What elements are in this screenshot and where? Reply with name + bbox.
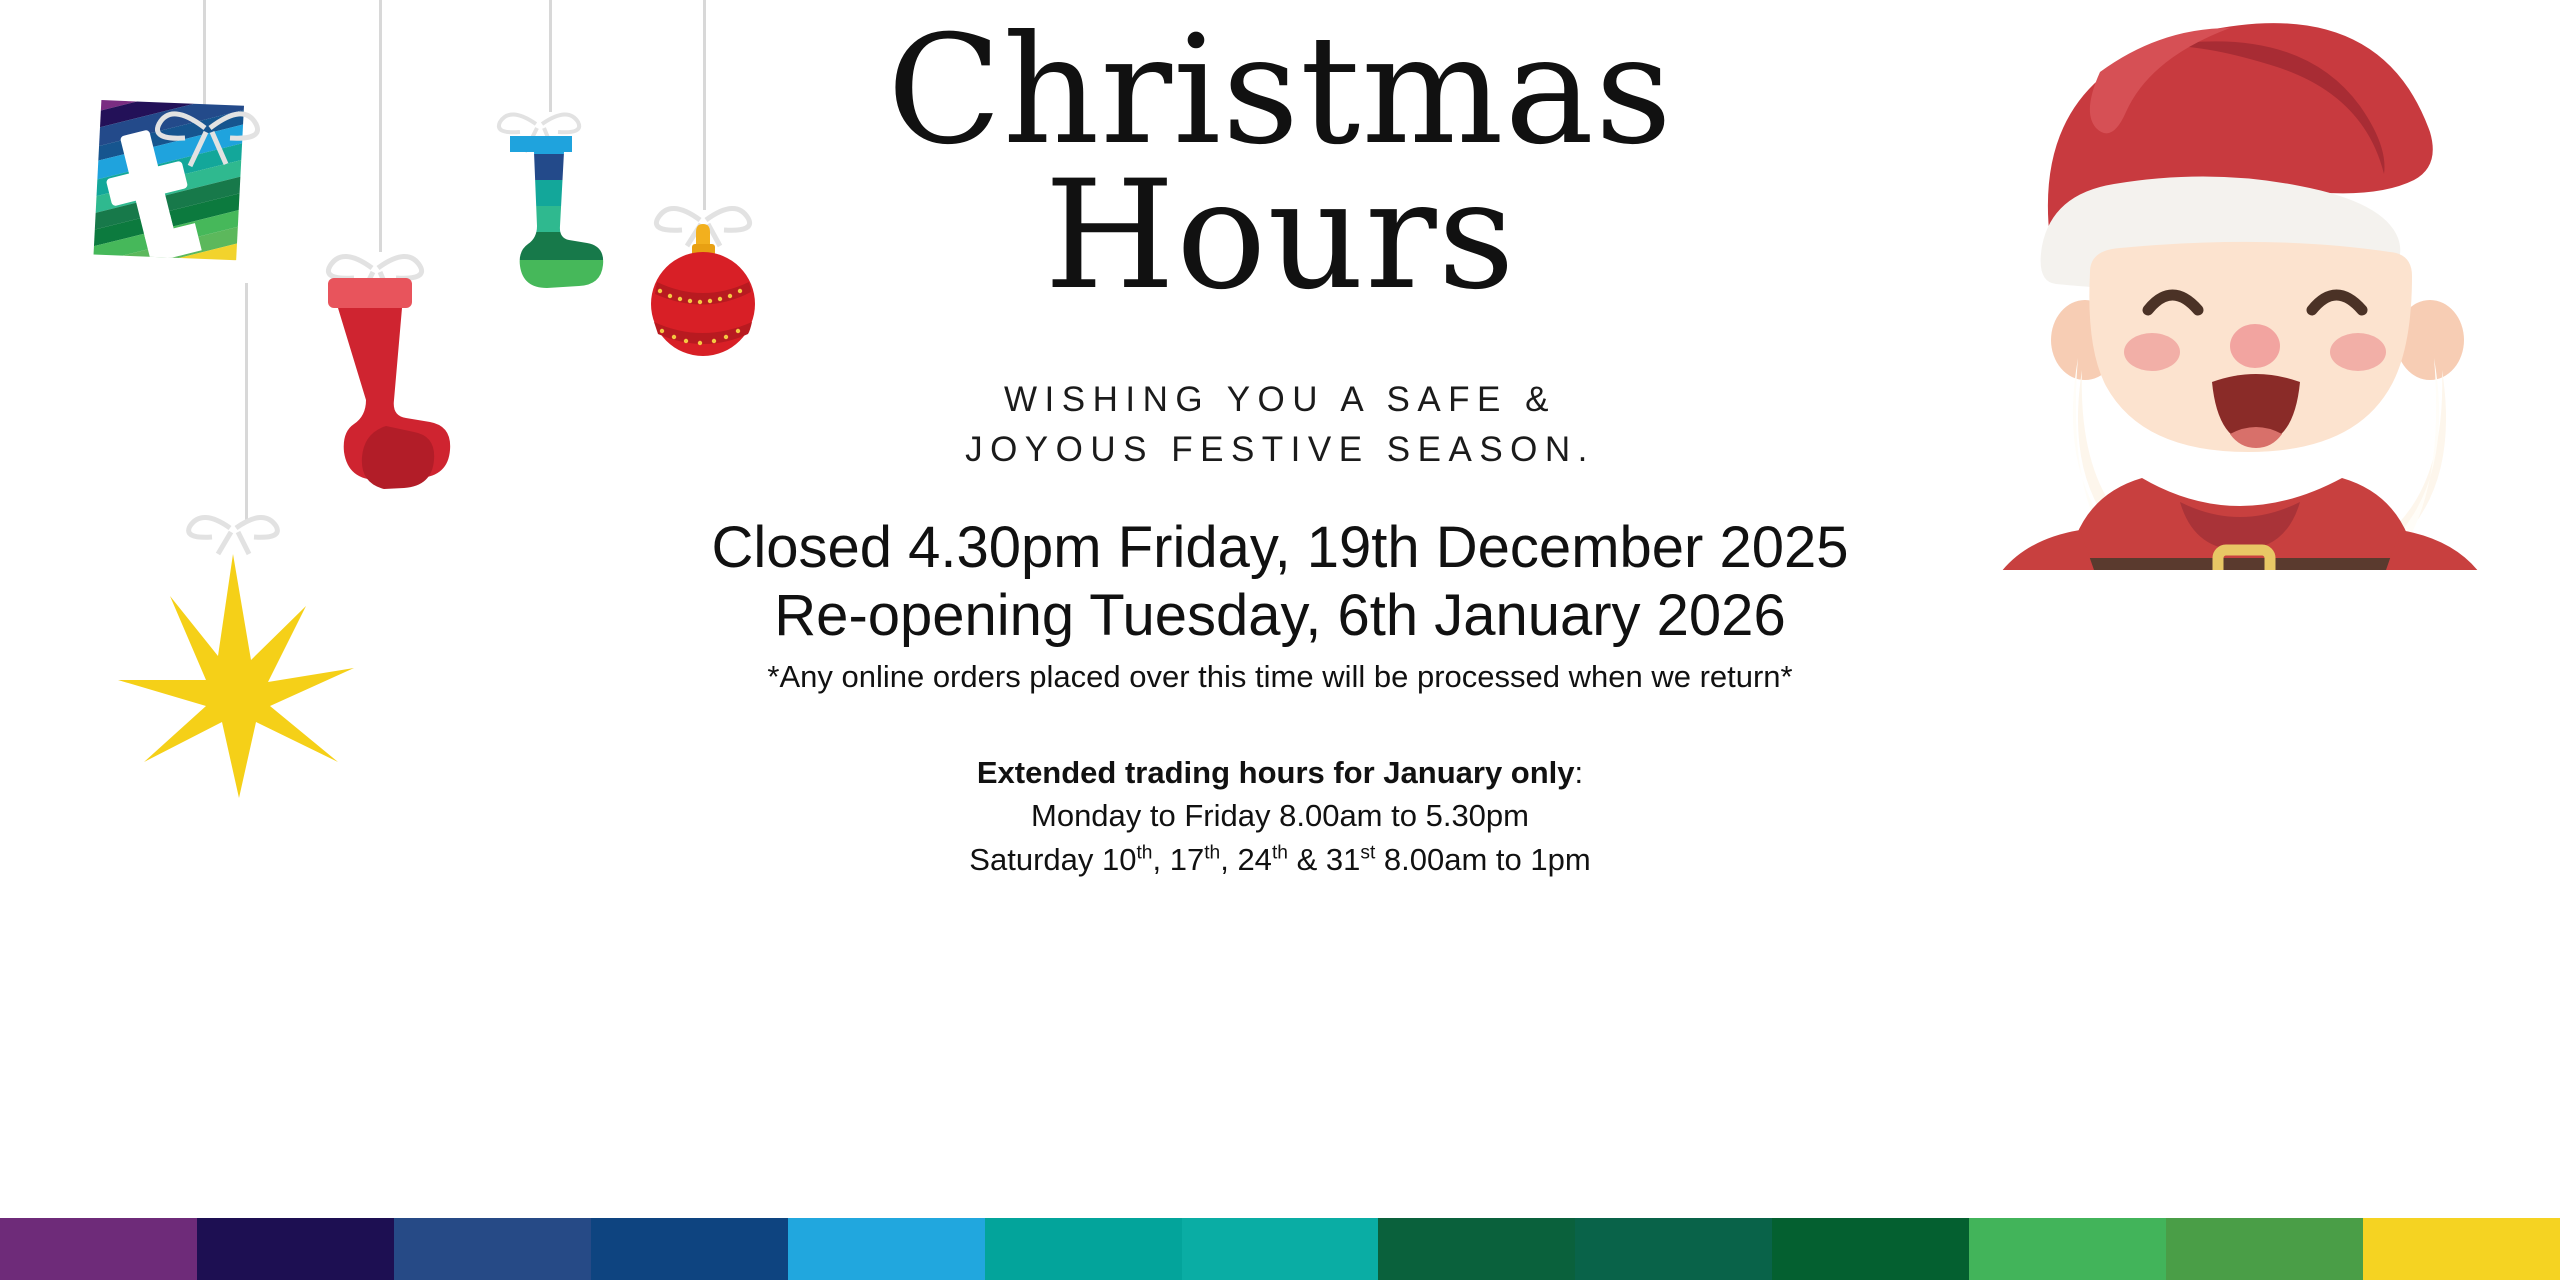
stripe-segment-13: [2363, 1218, 2560, 1280]
saturday-ordinal-2: th: [1204, 842, 1220, 863]
red-stocking: [290, 248, 460, 498]
stripe-segment-10: [1772, 1218, 1969, 1280]
saturday-ordinal-1: th: [1136, 842, 1152, 863]
saturday-ordinal-4: st: [1360, 842, 1375, 863]
saturday-hours: Saturday 10th, 17th, 24th & 31st 8.00am …: [530, 838, 2030, 881]
saturday-mid-2: , 24: [1220, 842, 1272, 877]
extended-hours-block: Extended trading hours for January only:…: [530, 751, 2030, 881]
stripe-segment-12: [2166, 1218, 2363, 1280]
page-title: Christmas Hours: [530, 22, 2030, 313]
stripe-segment-7: [1182, 1218, 1379, 1280]
rainbow-gift-tag: [20, 84, 270, 284]
yellow-star: [110, 510, 360, 800]
subtitle: WISHING YOU A SAFE & JOYOUS FESTIVE SEAS…: [530, 375, 2030, 474]
title-line-2: Hours: [530, 160, 2030, 313]
title-line-1: Christmas: [530, 22, 2030, 160]
subtitle-line-1: WISHING YOU A SAFE &: [530, 375, 2030, 425]
saturday-suffix: 8.00am to 1pm: [1375, 842, 1590, 877]
bottom-color-stripe: [0, 1218, 2560, 1280]
extended-hours-heading-text: Extended trading hours for January only: [977, 755, 1575, 790]
closing-date: Closed 4.30pm Friday, 19th December 2025: [530, 514, 2030, 581]
extended-hours-heading-suffix: :: [1575, 755, 1584, 790]
saturday-ordinal-3: th: [1272, 842, 1288, 863]
stripe-segment-2: [197, 1218, 394, 1280]
bow-icon: [189, 517, 278, 554]
extended-hours-heading: Extended trading hours for January only:: [530, 751, 2030, 794]
center-content: Christmas Hours WISHING YOU A SAFE & JOY…: [530, 0, 2030, 881]
stripe-segment-6: [985, 1218, 1182, 1280]
stripe-segment-8: [1378, 1218, 1575, 1280]
weekday-hours: Monday to Friday 8.00am to 5.30pm: [530, 794, 2030, 837]
reopening-date: Re-opening Tuesday, 6th January 2026: [530, 582, 2030, 649]
online-orders-note: *Any online orders placed over this time…: [530, 659, 2030, 695]
stripe-segment-4: [591, 1218, 788, 1280]
christmas-hours-banner: Christmas Hours WISHING YOU A SAFE & JOY…: [0, 0, 2560, 1280]
stripe-segment-5: [788, 1218, 985, 1280]
stripe-segment-1: [0, 1218, 197, 1280]
saturday-prefix: Saturday 10: [969, 842, 1136, 877]
subtitle-line-2: JOYOUS FESTIVE SEASON.: [530, 425, 2030, 475]
saturday-mid-3: & 31: [1288, 842, 1360, 877]
hat-pom: [2410, 28, 2482, 96]
stripe-segment-9: [1575, 1218, 1772, 1280]
decoration-string-2: [379, 0, 382, 252]
stripe-segment-3: [394, 1218, 591, 1280]
decoration-string-5: [245, 283, 248, 523]
stripe-segment-11: [1969, 1218, 2166, 1280]
saturday-mid-1: , 17: [1152, 842, 1204, 877]
